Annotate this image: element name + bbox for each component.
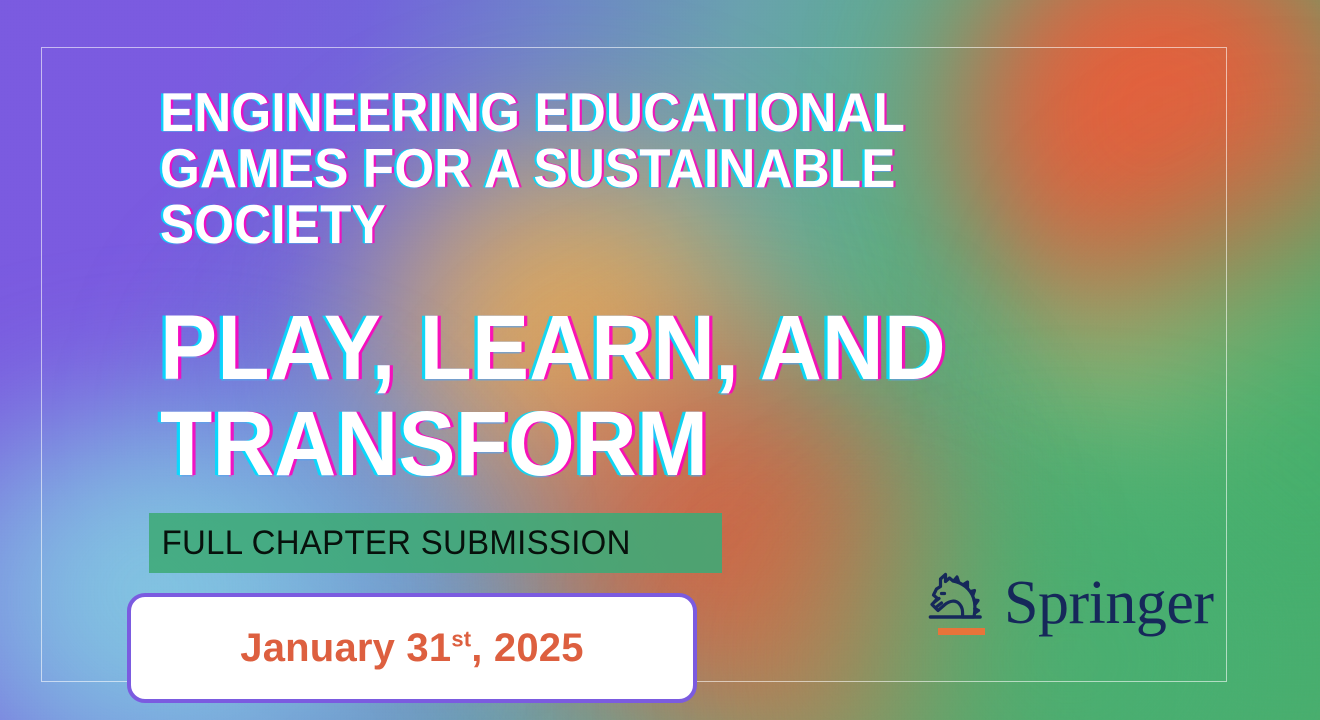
deadline-date-text: January 31st, 2025 <box>240 626 583 671</box>
poster-main-title: PLAY, LEARN, AND TRANSFORM <box>160 300 1146 492</box>
springer-orange-accent-bar <box>938 628 985 635</box>
date-ordinal-suffix: st <box>451 626 471 651</box>
deadline-date-card: January 31st, 2025 <box>127 593 697 703</box>
springer-wordmark: Springer <box>1004 572 1214 634</box>
date-suffix: , 2025 <box>471 626 583 670</box>
date-prefix: January 31 <box>240 626 451 670</box>
submission-banner-label: FULL CHAPTER SUBMISSION <box>149 524 631 563</box>
promotional-poster: ENGINEERING EDUCATIONAL GAMES FOR A SUST… <box>0 0 1320 720</box>
submission-banner: FULL CHAPTER SUBMISSION <box>149 513 722 573</box>
poster-heading: ENGINEERING EDUCATIONAL GAMES FOR A SUST… <box>160 84 1090 252</box>
